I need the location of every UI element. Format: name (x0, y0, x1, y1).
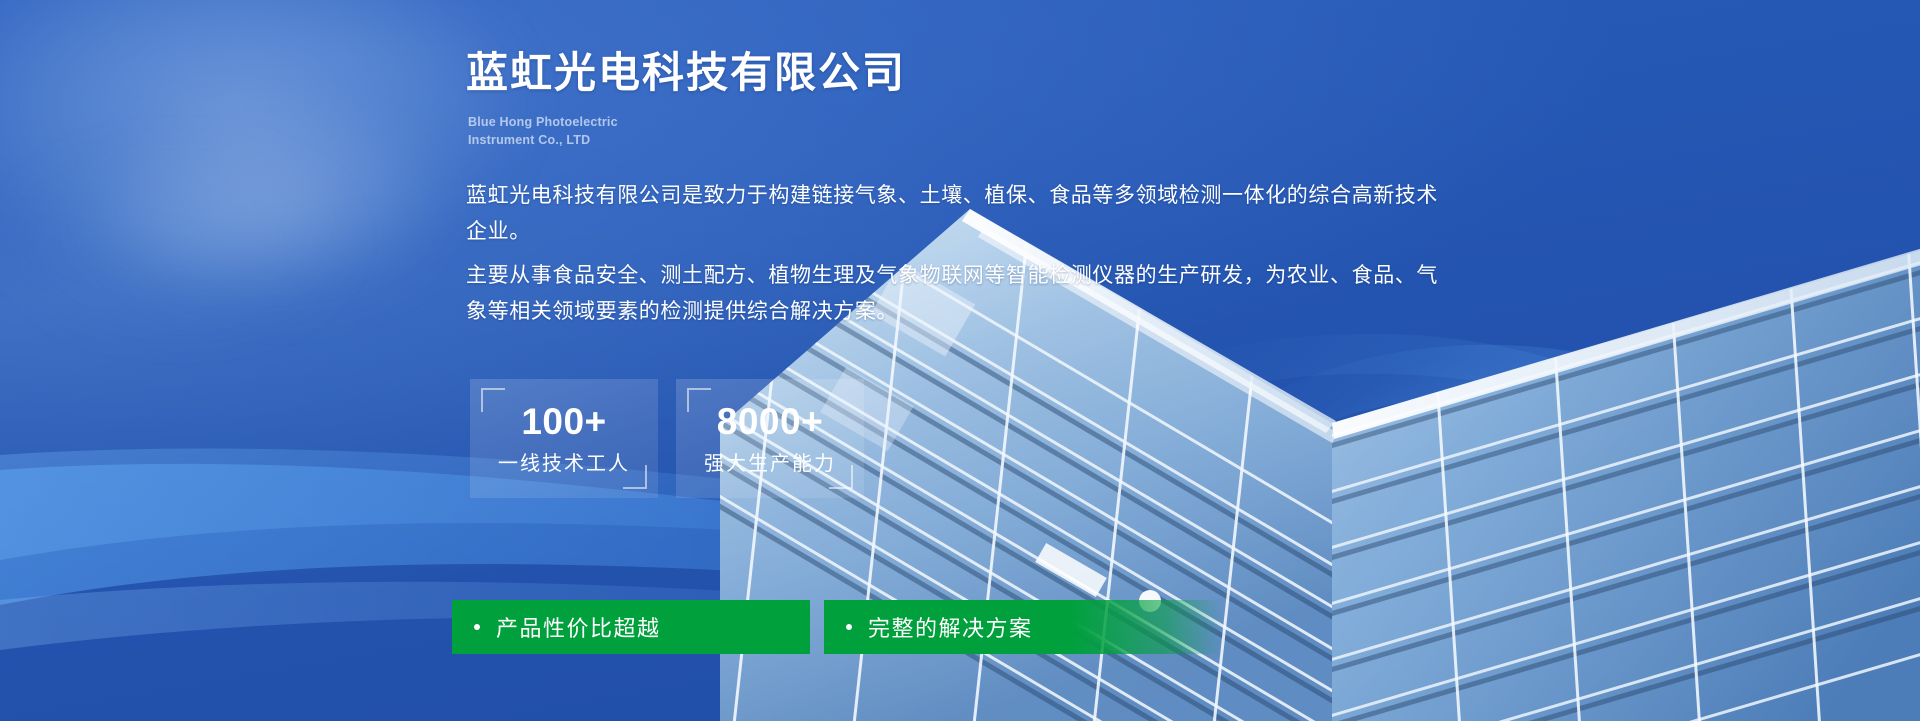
feature-bar-value: 产品性价比超越 (452, 600, 810, 654)
stat-card-workers: 100+ 一线技术工人 (470, 379, 658, 498)
company-subtitle-english: Blue Hong Photoelectric Instrument Co., … (468, 113, 618, 149)
stat-card-capacity: 8000+ 强大生产能力 (676, 379, 864, 498)
corner-bracket-icon (687, 388, 711, 412)
stat-value: 8000+ (717, 403, 823, 440)
subtitle-line-1: Blue Hong Photoelectric (468, 113, 618, 131)
intro-paragraph-2: 主要从事食品安全、测土配方、植物生理及气象物联网等智能检测仪器的生产研发，为农业… (466, 258, 1446, 330)
subtitle-line-2: Instrument Co., LTD (468, 131, 618, 149)
bullet-dot-icon (846, 624, 852, 630)
company-hero-banner: 蓝虹光电科技有限公司 Blue Hong Photoelectric Instr… (0, 0, 1920, 721)
bullet-dot-icon (474, 624, 480, 630)
intro-paragraph-1: 蓝虹光电科技有限公司是致力于构建链接气象、土壤、植保、食品等多领域检测一体化的综… (466, 178, 1446, 250)
stats-group: 100+ 一线技术工人 8000+ 强大生产能力 (470, 379, 864, 498)
corner-bracket-icon (481, 388, 505, 412)
stat-value: 100+ (521, 403, 606, 440)
stat-label: 一线技术工人 (498, 454, 630, 474)
feature-bar-solution: 完整的解决方案 (824, 600, 1222, 654)
page-title: 蓝虹光电科技有限公司 (466, 48, 906, 98)
feature-label: 产品性价比超越 (496, 611, 661, 643)
feature-label: 完整的解决方案 (868, 611, 1033, 643)
stat-label: 强大生产能力 (704, 454, 836, 474)
feature-bar-group: 产品性价比超越 完整的解决方案 (452, 600, 1222, 654)
banner-content: 蓝虹光电科技有限公司 Blue Hong Photoelectric Instr… (466, 0, 1466, 721)
